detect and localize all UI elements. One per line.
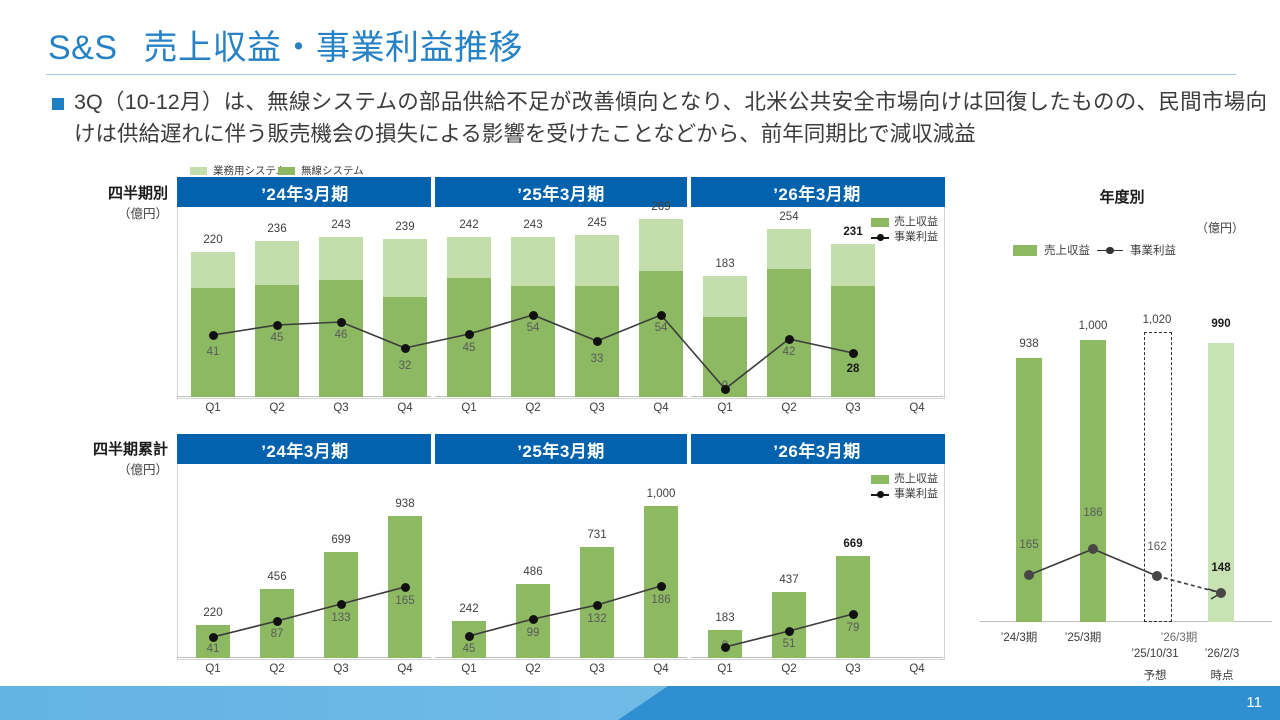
- cumulative-fy-header-2026: ’26年3月期: [689, 434, 945, 464]
- quarterly-xtick-6: Q3: [567, 402, 627, 414]
- annual-xtick-1: ’25/3期: [1053, 629, 1113, 645]
- cumulative-xtick-3: Q4: [375, 663, 435, 675]
- cum-profit-dot-10: [849, 610, 858, 619]
- legend-label: 無線システム: [301, 163, 364, 178]
- annual-xtick-0: ’24/3期: [989, 629, 1049, 645]
- page-number: 11: [1246, 694, 1262, 711]
- quarterly-legend: 売上収益 事業利益: [871, 215, 938, 245]
- annual-legend: 売上収益 事業利益: [1013, 242, 1176, 258]
- quarterly-xtick-4: Q1: [439, 402, 499, 414]
- cumulative-plot: 220 456 699 938 242 486 731 1,000 183 43…: [177, 465, 943, 658]
- quarterly-xtick-3: Q4: [375, 402, 435, 414]
- legend-label: 売上収益: [894, 215, 938, 230]
- legend-label: 売上収益: [894, 472, 938, 487]
- quarterly-xtick-5: Q2: [503, 402, 563, 414]
- quarterly-fy-header-2026: ’26年3月期: [689, 177, 945, 207]
- cum-profit-dot-7: [657, 582, 666, 591]
- legend-label: 業務用システム: [213, 163, 286, 178]
- annual-xtick-2: ’26/3期: [1149, 629, 1209, 645]
- body-bullet: 3Q（10-12月）は、無線システムの部品供給不足が改善傾向となり、北米公共安全…: [52, 86, 1267, 150]
- bar-swatch-icon: [871, 218, 889, 227]
- profit-dot-4: [465, 330, 474, 339]
- bullet-text: 3Q（10-12月）は、無線システムの部品供給不足が改善傾向となり、北米公共安全…: [74, 86, 1267, 150]
- cumulative-xtick-7: Q4: [631, 663, 691, 675]
- cumulative-xtick-4: Q1: [439, 663, 499, 675]
- legend-wireless-system: 無線システム: [278, 163, 364, 178]
- title-text: 売上収益・事業利益推移: [144, 29, 524, 67]
- profit-dot-5: [529, 311, 538, 320]
- profit-dot-3: [401, 344, 410, 353]
- cum-profit-dot-4: [465, 632, 474, 641]
- title-divider: [46, 74, 1236, 75]
- cumulative-xtick-1: Q2: [247, 663, 307, 675]
- annual-profit-dot-3: [1216, 588, 1226, 598]
- annual-profit-dot-2: [1152, 571, 1162, 581]
- cumulative-xtick-11: Q4: [887, 663, 947, 675]
- quarterly-xtick-9: Q2: [759, 402, 819, 414]
- quarterly-profit-line: [177, 208, 943, 397]
- legend-biz-system: 業務用システム: [190, 163, 286, 178]
- slide-root: S&S売上収益・事業利益推移 3Q（10-12月）は、無線システムの部品供給不足…: [0, 0, 1280, 720]
- quarterly-plot: 220 236 243 239 242 243 245 269 183 254 …: [177, 208, 943, 397]
- cum-profit-dot-9: [785, 627, 794, 636]
- cumulative-xtick-10: Q3: [823, 663, 883, 675]
- profit-dot-10: [849, 349, 858, 358]
- cumulative-fy-header-2025: ’25年3月期: [433, 434, 689, 464]
- cum-profit-dot-6: [593, 601, 602, 610]
- quarterly-xtick-2: Q3: [311, 402, 371, 414]
- bar-swatch-icon: [1013, 245, 1037, 256]
- cumulative-legend-profit: 事業利益: [871, 487, 938, 502]
- annual-sublabel-current-word: 時点: [1185, 667, 1259, 683]
- cum-profit-dot-2: [337, 600, 346, 609]
- legend-label: 事業利益: [894, 487, 938, 502]
- annual-title: 年度別: [1062, 186, 1182, 207]
- quarterly-xtick-7: Q4: [631, 402, 691, 414]
- profit-dot-2: [337, 318, 346, 327]
- annual-profit-dot-1: [1088, 544, 1098, 554]
- legend-swatch-icon: [190, 167, 207, 175]
- profit-dot-6: [593, 337, 602, 346]
- profit-dot-9: [785, 335, 794, 344]
- quarterly-xtick-1: Q2: [247, 402, 307, 414]
- cumulative-xtick-6: Q3: [567, 663, 627, 675]
- profit-dot-8: [721, 385, 730, 394]
- cumulative-profit-line: [177, 465, 943, 658]
- legend-label: 事業利益: [894, 230, 938, 245]
- footer-banner: [0, 686, 1280, 720]
- cumulative-xtick-0: Q1: [183, 663, 243, 675]
- quarterly-xtick-11: Q4: [887, 402, 947, 414]
- legend-label: 売上収益: [1044, 242, 1090, 258]
- cumulative-xtick-8: Q1: [695, 663, 755, 675]
- page-title: S&S売上収益・事業利益推移: [48, 20, 523, 69]
- quarterly-section-label: 四半期別: [58, 182, 168, 203]
- annual-unit-label: （億円）: [1196, 219, 1244, 236]
- cum-profit-dot-0: [209, 633, 218, 642]
- line-marker-icon: [1097, 245, 1123, 256]
- cumulative-fy-header-2024: ’24年3月期: [177, 434, 433, 464]
- cumulative-legend: 売上収益 事業利益: [871, 472, 938, 502]
- cumulative-xtick-5: Q2: [503, 663, 563, 675]
- quarterly-xtick-10: Q3: [823, 402, 883, 414]
- title-category: S&S: [48, 29, 118, 67]
- quarterly-legend-profit: 事業利益: [871, 230, 938, 245]
- cumulative-xtick-9: Q2: [759, 663, 819, 675]
- legend-swatch-icon: [278, 167, 295, 175]
- cumulative-legend-revenue: 売上収益: [871, 472, 938, 487]
- profit-dot-7: [657, 311, 666, 320]
- annual-plot: 938 1,000 1,020 990 165 186 162 148: [980, 296, 1272, 622]
- profit-dot-1: [273, 321, 282, 330]
- quarterly-xtick-8: Q1: [695, 402, 755, 414]
- cum-profit-dot-8: [721, 643, 730, 652]
- cumulative-xtick-2: Q3: [311, 663, 371, 675]
- line-marker-icon: [871, 490, 889, 499]
- cumulative-unit-label: （億円）: [48, 459, 168, 478]
- quarterly-xtick-0: Q1: [183, 402, 243, 414]
- line-marker-icon: [871, 233, 889, 242]
- bullet-square-icon: [52, 98, 64, 110]
- cumulative-section-label: 四半期累計: [48, 438, 168, 459]
- annual-profit-dot-0: [1024, 570, 1034, 580]
- profit-dot-0: [209, 331, 218, 340]
- quarterly-legend-revenue: 売上収益: [871, 215, 938, 230]
- quarterly-fy-header-2024: ’24年3月期: [177, 177, 433, 207]
- cum-profit-dot-5: [529, 615, 538, 624]
- cum-profit-dot-3: [401, 583, 410, 592]
- quarterly-unit-label: （億円）: [58, 203, 168, 222]
- bar-swatch-icon: [871, 475, 889, 484]
- cum-profit-dot-1: [273, 617, 282, 626]
- annual-sublabel-current-date: ’26/2/3: [1185, 648, 1259, 660]
- legend-label: 事業利益: [1130, 242, 1176, 258]
